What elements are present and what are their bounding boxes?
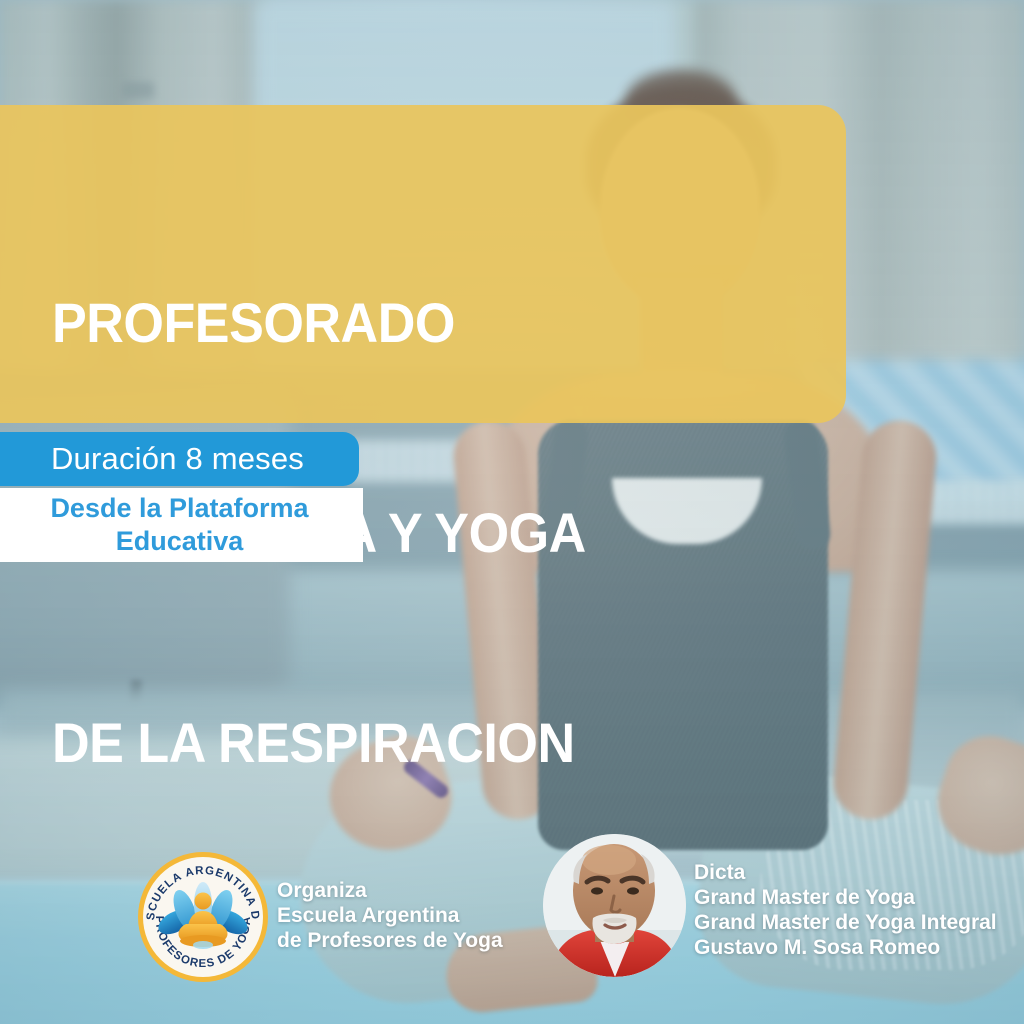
poster-canvas: PROFESORADO PRANAYAMA Y YOGA DE LA RESPI…	[0, 0, 1024, 1024]
portrait-icon	[543, 834, 686, 977]
platform-line-2: Educativa	[116, 525, 244, 558]
speaker-avatar	[543, 834, 686, 977]
title-line-3: DE LA RESPIRACION	[52, 708, 759, 778]
speaker-block: Dicta Grand Master de Yoga Grand Master …	[694, 860, 997, 960]
organizer-line-1: Escuela Argentina	[277, 903, 503, 928]
speaker-label: Dicta	[694, 860, 997, 885]
organizer-line-2: de Profesores de Yoga	[277, 928, 503, 953]
organizer-block: Organiza Escuela Argentina de Profesores…	[277, 878, 503, 953]
platform-line-1: Desde la Plataforma	[50, 492, 308, 525]
organization-logo: ESCUELA ARGENTINA DE PROFESORES DE YOGA	[136, 850, 270, 984]
duration-badge-label: Duración 8 meses	[29, 441, 304, 477]
title-line-1: PROFESORADO	[52, 288, 759, 358]
speaker-line-2: Grand Master de Yoga Integral	[694, 910, 997, 935]
platform-box: Desde la Plataforma Educativa	[0, 488, 363, 562]
logo-icon: ESCUELA ARGENTINA DE PROFESORES DE YOGA	[136, 850, 270, 984]
speaker-line-1: Grand Master de Yoga	[694, 885, 997, 910]
speaker-line-3: Gustavo M. Sosa Romeo	[694, 935, 997, 960]
organizer-label: Organiza	[277, 878, 503, 903]
duration-badge: Duración 8 meses	[0, 432, 359, 486]
